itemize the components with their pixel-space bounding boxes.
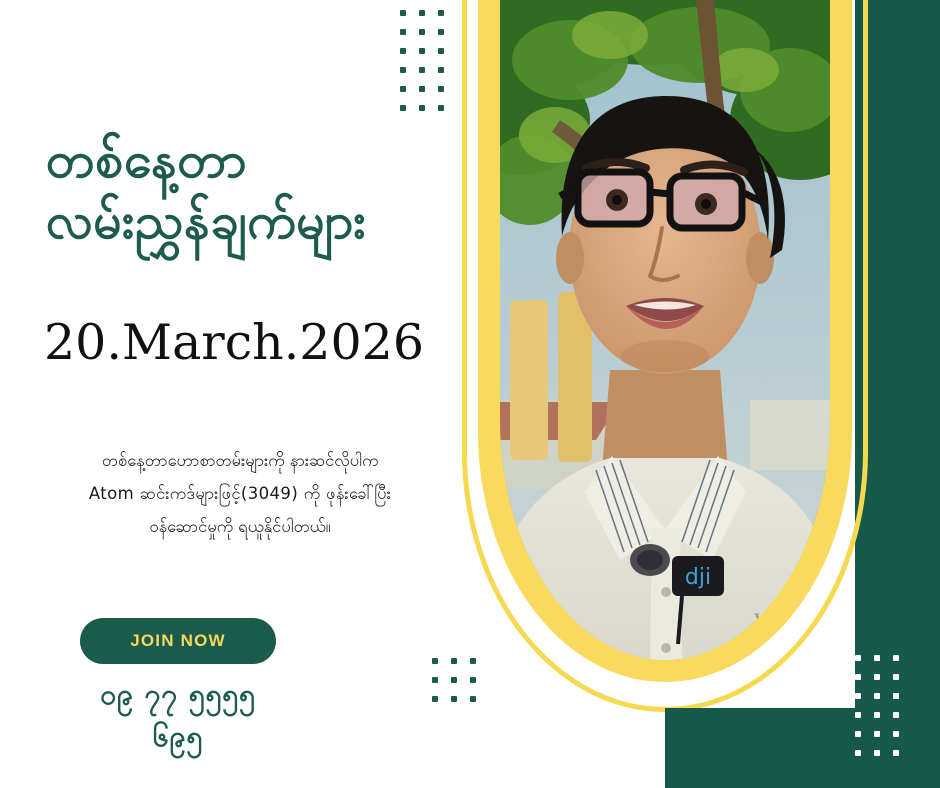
headline-line-1: တစ်နေ့တာ	[46, 130, 446, 191]
svg-text:dji: dji	[685, 565, 711, 590]
dot-grid-top-left	[400, 10, 457, 124]
headline-line-2: လမ်းညွှန်ချက်များ	[46, 191, 446, 252]
poster-date: 20.March.2026	[44, 314, 424, 371]
poster-canvas: dji VYP တစ်နေ့တာ လမ်	[0, 0, 940, 788]
svg-text:VYP: VYP	[754, 611, 790, 631]
portrait-photo-inner: dji VYP	[500, 0, 830, 660]
poster-body-text: တစ်နေ့တာဟောစာတမ်းများကို နားဆင်လိုပါက At…	[44, 444, 436, 543]
join-now-button[interactable]: JOIN NOW	[80, 618, 276, 664]
contact-phone-number[interactable]: ၀၉ ၇၇ ၅၅၅၅ ၆၉၅	[72, 676, 284, 760]
body-line-3: ဝန်ဆောင်မှုကို ရယူနိုင်ပါတယ်။	[44, 510, 436, 543]
dot-grid-mid-left	[432, 658, 489, 715]
portrait-photo: dji VYP	[500, 0, 830, 660]
portrait-illustration: dji VYP	[500, 0, 830, 660]
body-line-2: Atom ဆင်းကဒ်များဖြင့်(3049) ကို ဖုန်းခေါ…	[44, 477, 436, 510]
poster-headline: တစ်နေ့တာ လမ်းညွှန်ချက်များ	[46, 130, 446, 252]
body-line-1: တစ်နေ့တာဟောစာတမ်းများကို နားဆင်လိုပါက	[44, 444, 436, 477]
dot-grid-bottom-right	[855, 655, 912, 769]
